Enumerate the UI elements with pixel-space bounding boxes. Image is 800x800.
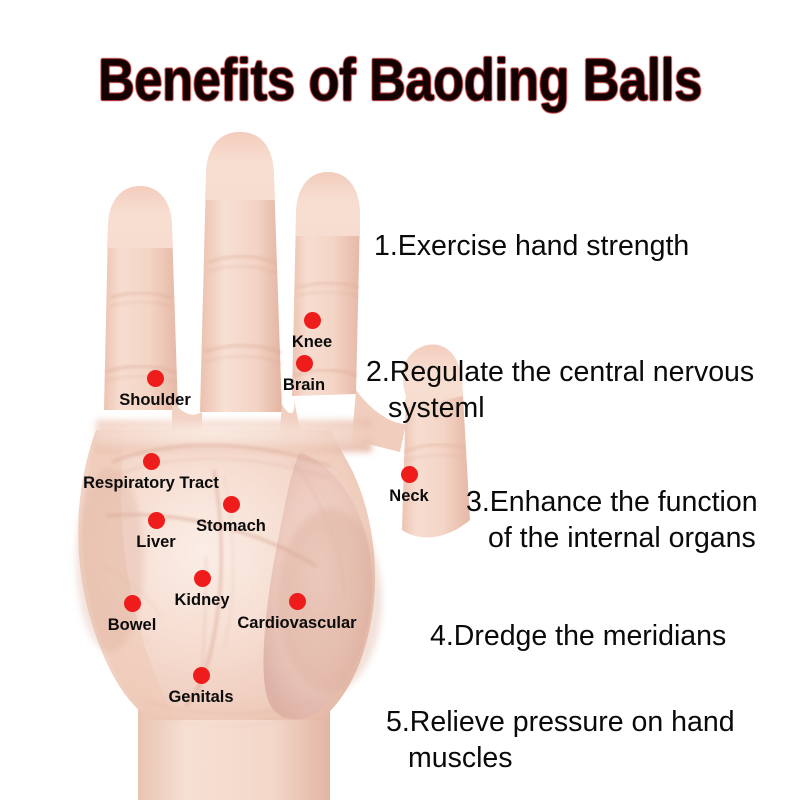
acupoint-dot-brain xyxy=(296,355,313,372)
benefit-item-1: 1.Exercise hand strength xyxy=(374,192,689,264)
acupoint-label-shoulder: Shoulder xyxy=(119,390,191,410)
acupoint-label-bowel: Bowel xyxy=(108,615,157,635)
page-title: Benefits of Baoding Balls xyxy=(56,48,744,112)
benefit-5-line-1: 5.Relieve pressure on hand xyxy=(386,706,735,738)
benefit-5-line-2: muscles xyxy=(386,740,735,776)
acupoint-label-brain: Brain xyxy=(283,375,325,395)
acupoint-label-respiratory-tract: Respiratory Tract xyxy=(83,473,219,493)
benefit-4-line-1: 4.Dredge the meridians xyxy=(430,620,726,652)
acupoint-dot-liver xyxy=(148,512,165,529)
acupoint-label-genitals: Genitals xyxy=(168,687,233,707)
acupoint-dot-knee xyxy=(304,312,321,329)
benefit-item-3: 3.Enhance the function of the internal o… xyxy=(466,448,758,592)
acupoint-dot-bowel xyxy=(124,595,141,612)
acupoint-dot-cardiovascular xyxy=(289,593,306,610)
benefit-2-line-2: systeml xyxy=(366,390,754,426)
benefits-list: 1.Exercise hand strength 2.Regulate the … xyxy=(366,178,800,758)
acupoint-label-cardiovascular: Cardiovascular xyxy=(237,613,356,633)
benefit-item-5: 5.Relieve pressure on hand muscles xyxy=(386,668,735,800)
benefit-3-line-1: 3.Enhance the function xyxy=(466,486,758,518)
benefit-2-line-1: 2.Regulate the central nervous xyxy=(366,356,754,388)
acupoint-label-knee: Knee xyxy=(292,332,332,352)
acupoint-label-liver: Liver xyxy=(136,532,175,552)
acupoint-dot-genitals xyxy=(193,667,210,684)
benefit-3-line-2: of the internal organs xyxy=(466,520,758,556)
acupoint-dot-kidney xyxy=(194,570,211,587)
index-finger xyxy=(104,186,178,410)
benefit-item-2: 2.Regulate the central nervous systeml xyxy=(366,318,754,462)
benefit-1-line-1: 1.Exercise hand strength xyxy=(374,230,689,262)
acupoint-dot-stomach xyxy=(223,496,240,513)
middle-finger xyxy=(200,132,283,412)
benefit-item-4: 4.Dredge the meridians xyxy=(430,582,726,654)
acupoint-label-stomach: Stomach xyxy=(196,516,266,536)
acupoint-dot-shoulder xyxy=(147,370,164,387)
acupoint-dot-respiratory-tract xyxy=(143,453,160,470)
acupoint-label-kidney: Kidney xyxy=(174,590,229,610)
poster-canvas: Benefits of Baoding Balls Knee Brain Sho… xyxy=(0,0,800,800)
